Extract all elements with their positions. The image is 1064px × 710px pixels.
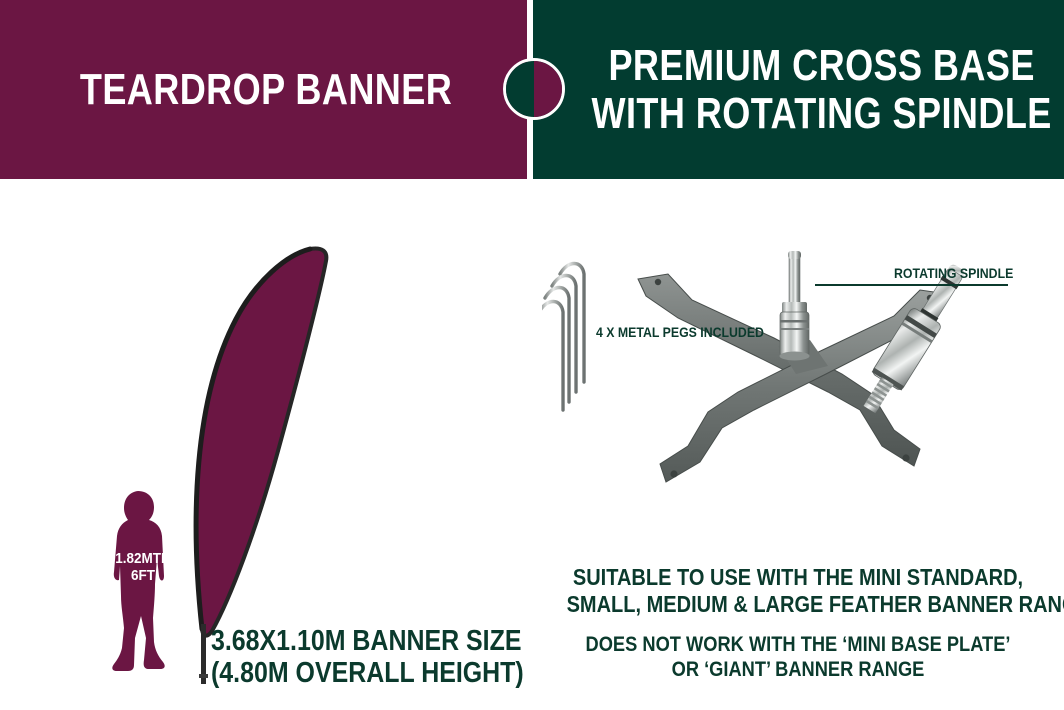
rotating-spindle-label: ROTATING SPINDLE bbox=[894, 265, 1013, 281]
teardrop-banner-illustration bbox=[150, 189, 360, 689]
person-height-label: 1.82MTR 6FT bbox=[108, 550, 178, 584]
person-height-metric: 1.82MTR bbox=[108, 550, 178, 567]
compatibility-not-suitable-line1: DOES NOT WORK WITH THE ‘MINI BASE PLATE’ bbox=[567, 632, 1030, 657]
spindle-leader-line bbox=[815, 284, 1008, 286]
header-right-title: PREMIUM CROSS BASE WITH ROTATING SPINDLE bbox=[591, 44, 1051, 136]
header-left-title: TEARDROP BANNER bbox=[80, 68, 452, 112]
product-infographic: TEARDROP BANNER PREMIUM CROSS BASE WITH … bbox=[0, 0, 1064, 710]
compatibility-suitable-line1: SUITABLE TO USE WITH THE MINI STANDARD, bbox=[567, 564, 1030, 591]
banner-size-caption: 3.68X1.10M BANNER SIZE (4.80M OVERALL HE… bbox=[211, 625, 524, 689]
header-right-title-line2: WITH ROTATING SPINDLE bbox=[591, 92, 1051, 136]
seam-circle-decoration bbox=[503, 58, 565, 120]
banner-flag-shape bbox=[196, 249, 326, 636]
banner-size-line2: (4.80M OVERALL HEIGHT) bbox=[211, 657, 524, 689]
metal-pegs-group bbox=[542, 264, 584, 411]
banner-size-line1: 3.68X1.10M BANNER SIZE bbox=[211, 625, 524, 657]
center-rotating-spindle bbox=[780, 251, 810, 361]
seam-circle-right-half bbox=[534, 61, 562, 117]
compatibility-suitable: SUITABLE TO USE WITH THE MINI STANDARD, … bbox=[567, 564, 1030, 618]
cross-base-section: 4 X METAL PEGS INCLUDED ROTATING SPINDLE… bbox=[532, 179, 1064, 710]
header-bar: TEARDROP BANNER PREMIUM CROSS BASE WITH … bbox=[0, 0, 1064, 179]
metal-pegs-label: 4 X METAL PEGS INCLUDED bbox=[596, 324, 764, 340]
compatibility-not-suitable-line2: OR ‘GIANT’ BANNER RANGE bbox=[567, 657, 1030, 682]
teardrop-banner-section: 1.82MTR 6FT 3.68X1.10M BANNER SIZE (4.80… bbox=[0, 179, 532, 710]
header-panel-left: TEARDROP BANNER bbox=[0, 0, 527, 179]
compatibility-not-suitable: DOES NOT WORK WITH THE ‘MINI BASE PLATE’… bbox=[567, 632, 1030, 682]
header-panel-right: PREMIUM CROSS BASE WITH ROTATING SPINDLE bbox=[533, 0, 1064, 179]
header-right-title-line1: PREMIUM CROSS BASE bbox=[591, 44, 1051, 88]
person-height-imperial: 6FT bbox=[108, 567, 178, 584]
compatibility-notes: SUITABLE TO USE WITH THE MINI STANDARD, … bbox=[532, 564, 1064, 682]
seam-circle-left-half bbox=[506, 61, 534, 117]
compatibility-suitable-line2: SMALL, MEDIUM & LARGE FEATHER BANNER RAN… bbox=[567, 591, 1030, 618]
banner-pole-foot bbox=[199, 674, 208, 678]
